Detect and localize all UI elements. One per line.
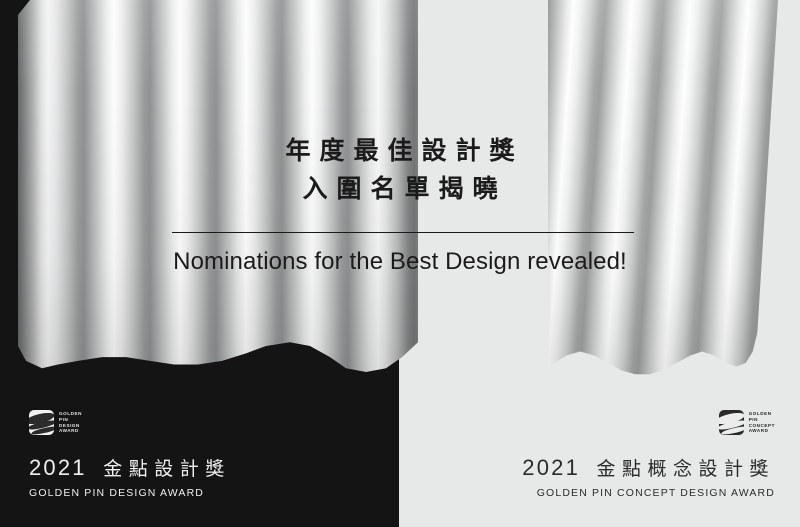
- award-title-row: 2021 金點設計獎: [29, 457, 231, 479]
- award-name-chinese: 金點概念設計獎: [596, 459, 775, 480]
- logo-word-4: AWARD: [59, 428, 82, 434]
- award-lockup-concept: GOLDEN PIN CONCEPT AWARD 2021 金點概念設計獎 GO…: [522, 410, 775, 499]
- award-name-english: GOLDEN PIN DESIGN AWARD: [29, 487, 231, 499]
- award-name-english: GOLDEN PIN CONCEPT DESIGN AWARD: [522, 487, 775, 499]
- golden-pin-concept-award-logo: GOLDEN PIN CONCEPT AWARD: [719, 410, 775, 435]
- headline-chinese-line-2: 入圍名單揭曉: [0, 170, 800, 208]
- headline-chinese-line-1: 年度最佳設計獎: [0, 132, 800, 170]
- golden-pin-mark-icon: [29, 410, 54, 435]
- golden-pin-concept-mark-icon: [719, 410, 744, 435]
- golden-pin-design-award-logo: GOLDEN PIN DESIGN AWARD: [29, 410, 82, 435]
- award-year: 2021: [522, 455, 580, 480]
- headline-english-subheading: Nominations for the Best Design revealed…: [0, 248, 800, 276]
- award-lockup-design: GOLDEN PIN DESIGN AWARD 2021 金點設計獎 GOLDE…: [29, 410, 231, 499]
- logo-word-4: AWARD: [749, 428, 775, 434]
- headline-divider-rule: [172, 232, 634, 233]
- logo-wordmark: GOLDEN PIN CONCEPT AWARD: [749, 411, 775, 433]
- poster-canvas: 年度最佳設計獎 入圍名單揭曉 Nominations for the Best …: [0, 0, 800, 527]
- award-name-chinese: 金點設計獎: [103, 459, 231, 480]
- award-year: 2021: [29, 455, 87, 480]
- headline-block: 年度最佳設計獎 入圍名單揭曉: [0, 132, 800, 208]
- award-title-row: 2021 金點概念設計獎: [522, 457, 775, 479]
- logo-wordmark: GOLDEN PIN DESIGN AWARD: [59, 411, 82, 433]
